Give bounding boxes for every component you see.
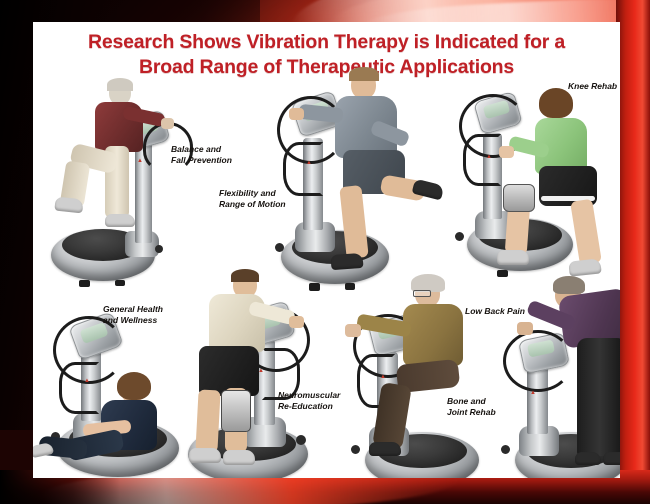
person-flexibility: [323, 70, 453, 275]
callout-neuromuscular-re-education: Neuromuscular Re-Education: [278, 390, 340, 411]
machine-foot: [79, 280, 90, 287]
machine-adjust-knob: [155, 245, 163, 253]
person-low-back: [519, 264, 620, 478]
person-glasses: [413, 290, 431, 297]
callout-balance-fall-prevention: Balance and Fall Prevention: [171, 144, 232, 165]
person-shoe-front: [497, 250, 529, 265]
title-line-1: Research Shows Vibration Therapy is Indi…: [88, 31, 565, 53]
machine-adjust-knob: [501, 445, 510, 454]
person-shoe-left: [575, 452, 601, 465]
person-hair: [117, 372, 151, 400]
machine-brand-mark: ▲: [380, 374, 386, 380]
person-shoe-right: [223, 450, 255, 465]
callout-low-back-pain: Low Back Pain: [465, 306, 525, 317]
person-knee-rehab: [523, 92, 620, 287]
machine-foot: [345, 283, 355, 290]
person-leg-brace: [221, 390, 251, 432]
person-hand: [345, 324, 361, 337]
person-leg-other: [195, 389, 220, 452]
machine-brand-mark: ▲: [486, 154, 492, 160]
machine-handlebar-lower: [283, 142, 323, 196]
person-shoe-right: [603, 452, 620, 465]
person-hand: [289, 316, 304, 328]
callout-knee-rehab: Knee Rehab: [568, 81, 617, 92]
callout-bone-joint-rehab: Bone and Joint Rehab: [447, 396, 496, 417]
person-hand-left: [289, 108, 304, 120]
callout-flexibility-range-of-motion: Flexibility and Range of Motion: [219, 188, 286, 209]
person-shoe-down: [331, 253, 364, 270]
machine-brand-mark: ▲: [306, 160, 312, 166]
person-legs: [577, 338, 620, 456]
machine-adjust-knob: [351, 445, 360, 454]
machine-adjust-knob: [455, 232, 464, 241]
person-shoe-front: [105, 214, 135, 227]
person-wellness: [39, 374, 179, 478]
person-torso: [403, 304, 463, 366]
machine-foot: [497, 270, 508, 277]
person-hand: [499, 146, 514, 158]
person-shoe-left: [189, 448, 221, 463]
person-knee-brace: [503, 184, 535, 212]
person-hair: [107, 78, 133, 91]
person-shoe: [369, 442, 401, 456]
person-hair: [231, 269, 259, 282]
person-leg-back: [570, 199, 602, 266]
machine-handlebar-lower: [463, 134, 501, 186]
frame-right-band: [616, 0, 650, 504]
machine-adjust-knob: [275, 243, 284, 252]
person-hand: [161, 118, 174, 129]
machine-foot: [115, 280, 125, 286]
person-neuromuscular: [193, 272, 313, 472]
person-hair: [349, 67, 379, 81]
person-leg-down: [339, 185, 368, 259]
callout-general-health-wellness: General Health and Wellness: [103, 304, 163, 325]
poster: Research Shows Vibration Therapy is Indi…: [0, 0, 650, 504]
person-hair: [539, 88, 573, 118]
person-hand: [517, 322, 533, 335]
person-hair: [553, 276, 585, 294]
poster-canvas: Research Shows Vibration Therapy is Indi…: [33, 22, 620, 478]
